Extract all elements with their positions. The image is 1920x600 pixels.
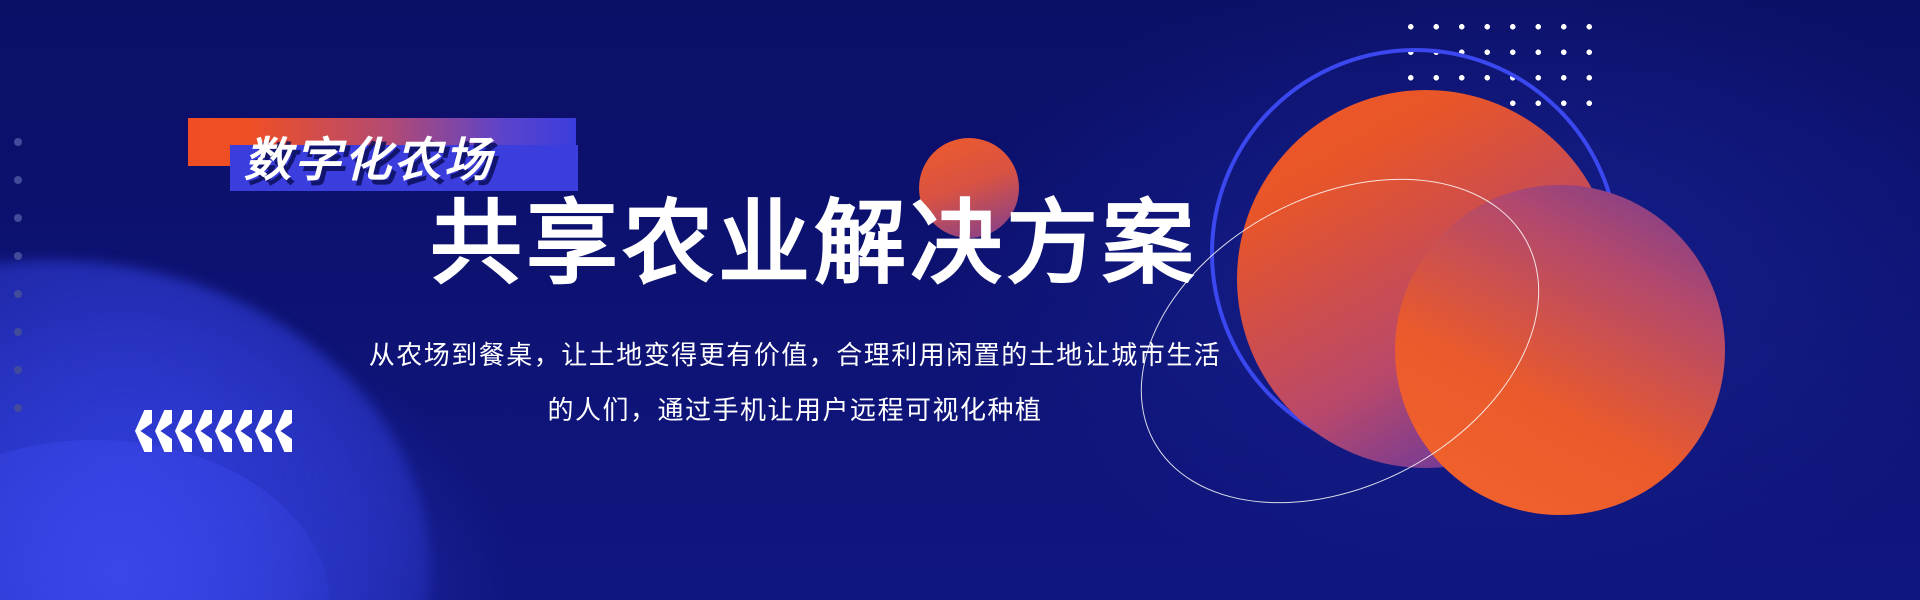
chevron-left-icon bbox=[175, 410, 192, 452]
chevron-left-icon bbox=[255, 410, 272, 452]
subtitle-line-2: 的人们，通过手机让用户远程可视化种植 bbox=[290, 383, 1300, 438]
hero-banner: 数字化农场 共享农业解决方案 从农场到餐桌，让土地变得更有价值，合理利用闲置的土… bbox=[0, 0, 1920, 600]
chevron-left-icon bbox=[155, 410, 172, 452]
chevron-arrows-decoration bbox=[135, 410, 292, 452]
page-title: 共享农业解决方案 bbox=[430, 196, 1170, 294]
dot bbox=[14, 290, 22, 298]
chevron-left-icon bbox=[195, 410, 212, 452]
badge-label: 数字化农场 bbox=[244, 136, 494, 183]
chevron-left-icon bbox=[235, 410, 252, 452]
chevron-left-icon bbox=[135, 410, 152, 452]
dot bbox=[14, 138, 22, 146]
dot bbox=[14, 404, 22, 412]
left-dot-column bbox=[14, 138, 22, 412]
dot bbox=[14, 252, 22, 260]
dot bbox=[14, 366, 22, 374]
subtitle: 从农场到餐桌，让土地变得更有价值，合理利用闲置的土地让城市生活 的人们，通过手机… bbox=[290, 328, 1300, 438]
dot bbox=[14, 214, 22, 222]
dot bbox=[14, 328, 22, 336]
dot bbox=[14, 176, 22, 184]
chevron-left-icon bbox=[275, 410, 292, 452]
subtitle-line-1: 从农场到餐桌，让土地变得更有价值，合理利用闲置的土地让城市生活 bbox=[290, 328, 1300, 383]
chevron-left-icon bbox=[215, 410, 232, 452]
badge: 数字化农场 bbox=[188, 118, 608, 198]
